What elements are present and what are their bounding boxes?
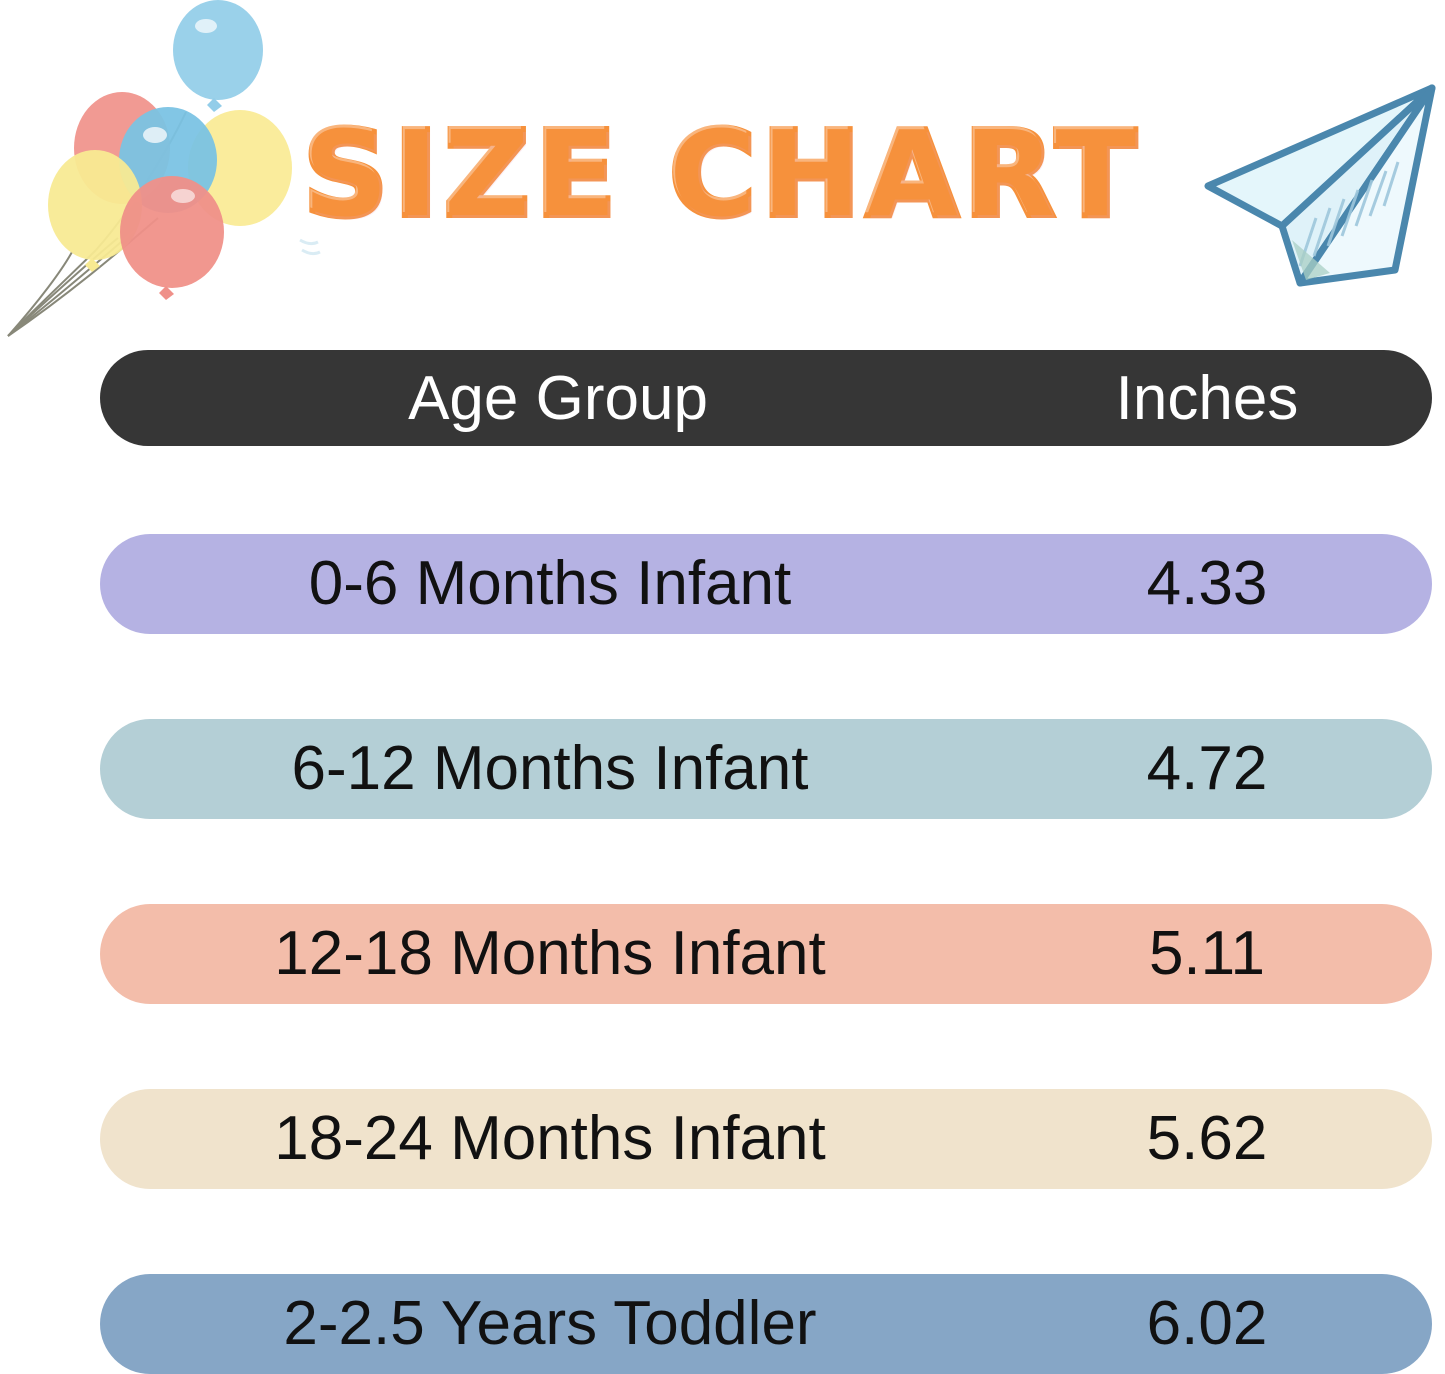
table-row: 0-6 Months Infant 4.33 [100,534,1432,634]
cell-inches: 5.62 [1000,1089,1432,1189]
cell-age-group: 2-2.5 Years Toddler [100,1274,1000,1374]
cell-age-group: 12-18 Months Infant [100,904,1000,1004]
page-title: SIZE CHART [0,104,1445,244]
column-header-inches: Inches [998,363,1432,434]
column-header-age-group: Age Group [100,363,998,434]
cell-inches: 4.33 [1000,534,1432,634]
cell-age-group: 6-12 Months Infant [100,719,1000,819]
cell-inches: 4.72 [1000,719,1432,819]
cell-age-group: 0-6 Months Infant [100,534,1000,634]
size-chart-table: Age Group Inches 0-6 Months Infant 4.33 … [100,350,1432,1374]
table-row: 6-12 Months Infant 4.72 [100,719,1432,819]
table-row: 18-24 Months Infant 5.62 [100,1089,1432,1189]
cell-inches: 5.11 [1000,904,1432,1004]
cell-inches: 6.02 [1000,1274,1432,1374]
table-row: 2-2.5 Years Toddler 6.02 [100,1274,1432,1374]
table-header-row: Age Group Inches [100,350,1432,446]
table-row: 12-18 Months Infant 5.11 [100,904,1432,1004]
cell-age-group: 18-24 Months Infant [100,1089,1000,1189]
